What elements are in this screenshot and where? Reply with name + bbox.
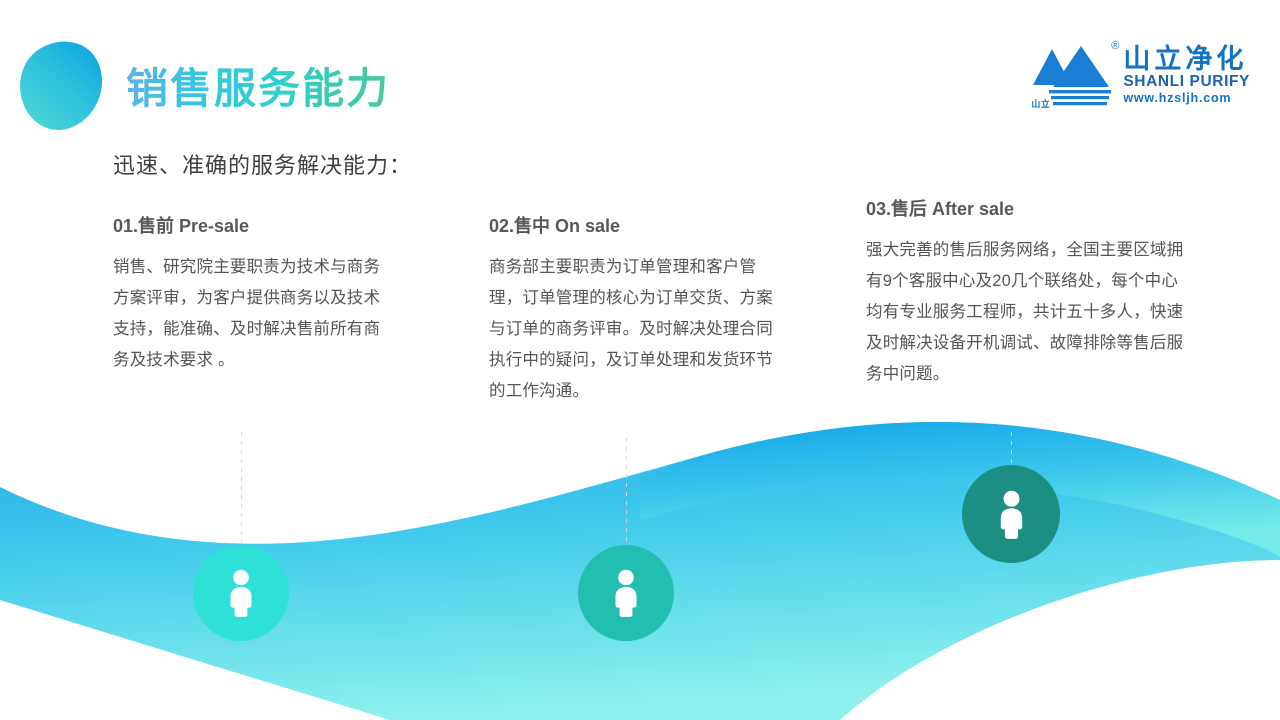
content-column-pre-sale: 01.售前 Pre-sale 销售、研究院主要职责为技术与商务方案评审，为客户提…	[113, 212, 393, 376]
person-icon	[993, 489, 1030, 540]
logo-company-en: SHANLI PURIFY	[1123, 73, 1250, 91]
person-icon	[223, 568, 259, 618]
logo-text-block: 山立净化 SHANLI PURIFY www.hzsljh.com	[1123, 43, 1250, 106]
column-body-text: 强大完善的售后服务网络，全国主要区域拥有9个客服中心及20几个联络处，每个中心均…	[866, 235, 1186, 390]
shanli-mountain-logo-icon: ® 山立	[1031, 43, 1117, 109]
content-column-on-sale: 02.售中 On sale 商务部主要职责为订单管理和客户管理，订单管理的核心为…	[489, 212, 779, 407]
logo-mark-label: 山立	[1031, 97, 1050, 110]
column-heading: 01.售前 Pre-sale	[113, 212, 393, 238]
column-body-text: 商务部主要职责为订单管理和客户管理，订单管理的核心为订单交货、方案与订单的商务评…	[489, 252, 779, 407]
page-title: 销售服务能力	[126, 55, 390, 116]
column-heading: 03.售后 After sale	[866, 195, 1186, 221]
logo-website: www.hzsljh.com	[1123, 91, 1250, 106]
logo-company-cn: 山立净化	[1123, 45, 1250, 73]
column-body-text: 销售、研究院主要职责为技术与商务方案评审，为客户提供商务以及技术支持，能准确、及…	[113, 252, 393, 376]
person-badge-after-sale	[962, 465, 1060, 563]
slide-canvas: 销售服务能力 ® 山立 山立净化 SHANLI PURIFY www.hzslj…	[0, 0, 1280, 720]
registered-trademark-icon: ®	[1111, 41, 1119, 52]
company-logo: ® 山立 山立净化 SHANLI PURIFY www.hzsljh.com	[1031, 43, 1250, 109]
section-subtitle: 迅速、准确的服务解决能力：	[113, 148, 412, 180]
person-icon	[608, 568, 644, 618]
content-column-after-sale: 03.售后 After sale 强大完善的售后服务网络，全国主要区域拥有9个客…	[866, 195, 1186, 390]
connector-dashed-line-2	[626, 438, 627, 556]
decorative-blob	[18, 41, 104, 131]
person-badge-pre-sale	[193, 545, 289, 641]
column-heading: 02.售中 On sale	[489, 212, 779, 238]
person-badge-on-sale	[578, 545, 674, 641]
connector-dashed-line-1	[241, 432, 242, 557]
